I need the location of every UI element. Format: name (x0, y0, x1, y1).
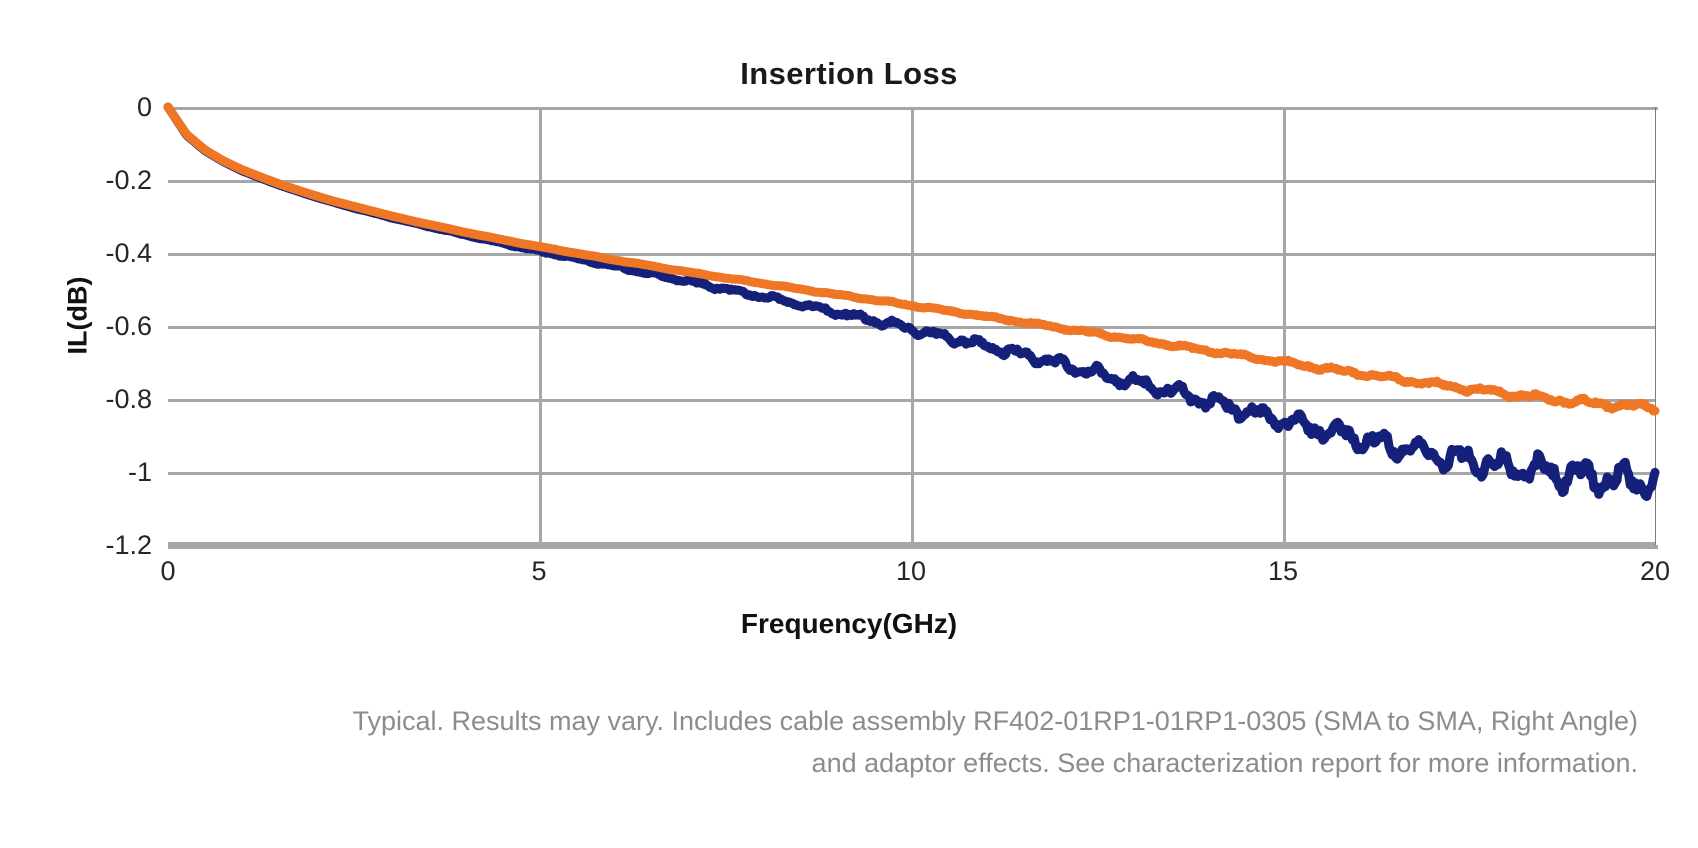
data-series-layer (168, 107, 1655, 545)
x-tick-15: 15 (1223, 556, 1343, 587)
x-tick-10: 10 (851, 556, 971, 587)
y-tick-5: -1 (32, 457, 152, 488)
x-axis-title: Frequency(GHz) (0, 608, 1698, 640)
y-tick-0: 0 (32, 92, 152, 123)
caption-line-1: Typical. Results may vary. Includes cabl… (60, 700, 1638, 742)
insertion-loss-chart: Insertion Loss 0 -0.2 -0.4 -0.6 -0.8 -1 … (0, 0, 1698, 700)
x-tick-0: 0 (108, 556, 228, 587)
chart-caption: Typical. Results may vary. Includes cabl… (60, 700, 1638, 784)
chart-title: Insertion Loss (0, 56, 1698, 92)
caption-line-2: and adaptor effects. See characterizatio… (60, 742, 1638, 784)
chart-page: Insertion Loss 0 -0.2 -0.4 -0.6 -0.8 -1 … (0, 0, 1698, 848)
y-axis-title: IL(dB) (63, 226, 94, 406)
x-tick-20: 20 (1595, 556, 1698, 587)
y-tick-1: -0.2 (32, 165, 152, 196)
x-axis-spine (168, 545, 1658, 549)
series-upper-trace (168, 107, 1655, 411)
x-tick-5: 5 (479, 556, 599, 587)
